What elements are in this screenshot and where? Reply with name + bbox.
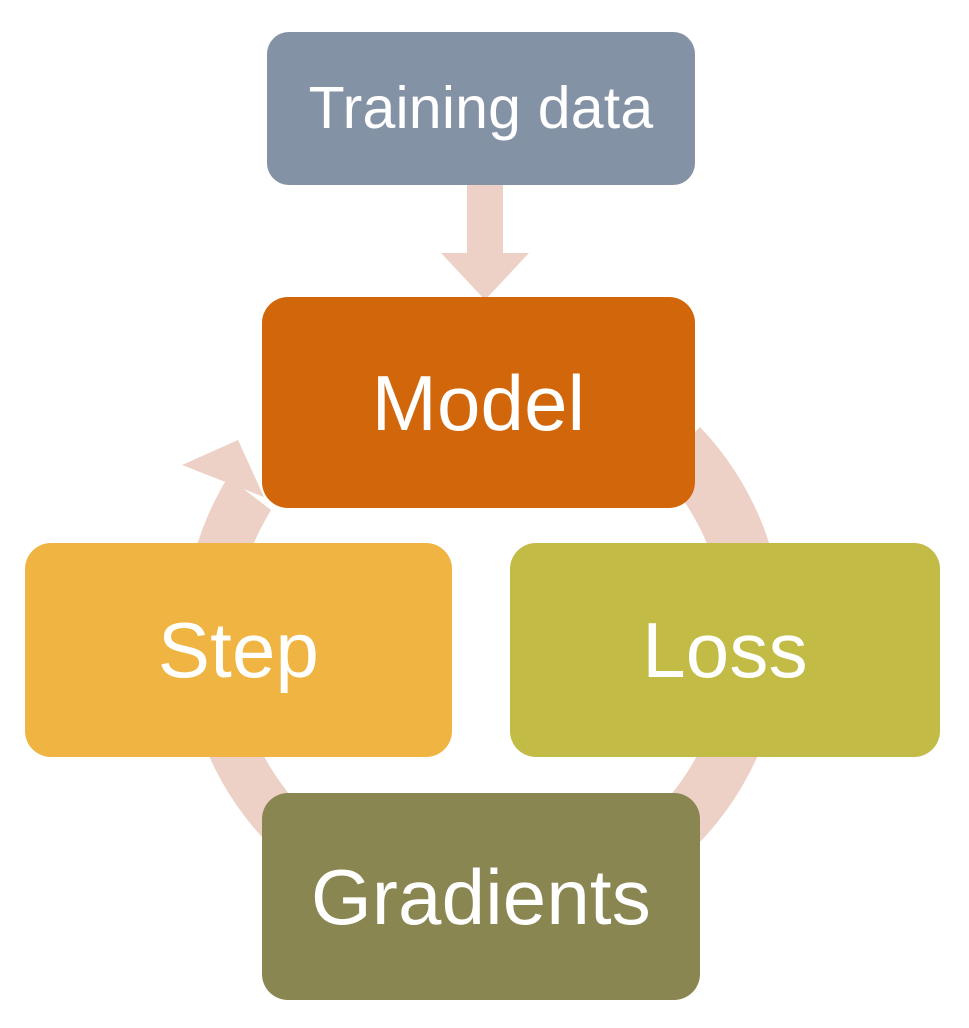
node-loss-label: Loss bbox=[642, 611, 808, 689]
arrow-shaft bbox=[467, 180, 503, 256]
node-step-label: Step bbox=[158, 611, 319, 689]
arrow-head-down-icon bbox=[441, 253, 529, 300]
node-model[interactable]: Model bbox=[262, 297, 695, 508]
node-step[interactable]: Step bbox=[25, 543, 452, 757]
node-training-data[interactable]: Training data bbox=[267, 32, 695, 185]
diagram-canvas: Training data Model Loss Gradients Step bbox=[0, 0, 969, 1028]
cycle-arrow-head bbox=[182, 440, 264, 497]
node-training-data-label: Training data bbox=[309, 79, 654, 138]
node-gradients-label: Gradients bbox=[311, 858, 651, 936]
node-gradients[interactable]: Gradients bbox=[262, 793, 700, 1000]
node-model-label: Model bbox=[372, 364, 585, 442]
node-loss[interactable]: Loss bbox=[510, 543, 940, 757]
